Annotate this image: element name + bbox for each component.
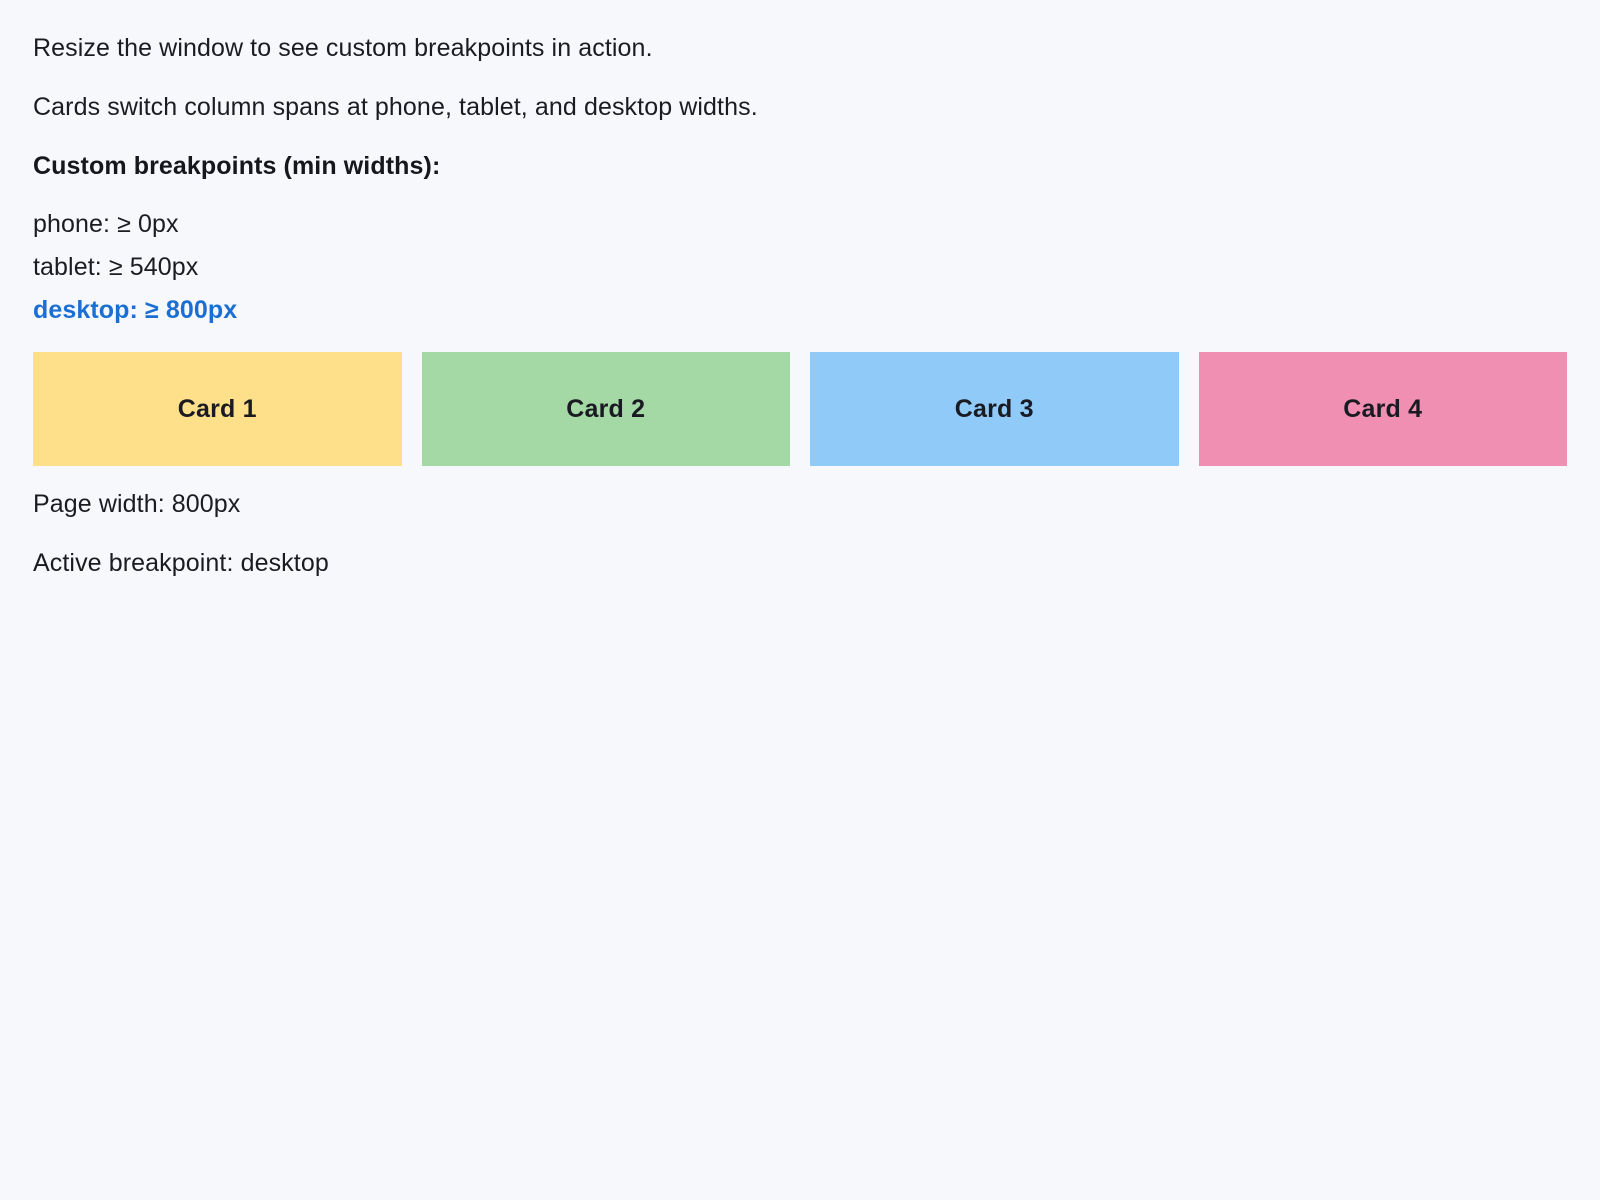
intro-line-2: Cards switch column spans at phone, tabl… xyxy=(33,92,1567,122)
card-2[interactable]: Card 2 xyxy=(422,352,791,466)
card-2-label: Card 2 xyxy=(566,395,645,424)
card-1-label: Card 1 xyxy=(178,395,257,424)
card-1[interactable]: Card 1 xyxy=(33,352,402,466)
status-block: Page width: 800px Active breakpoint: des… xyxy=(33,489,1567,578)
breakpoints-heading: Custom breakpoints (min widths): xyxy=(33,151,1567,181)
page-root: Resize the window to see custom breakpoi… xyxy=(0,0,1600,1200)
cards-grid: Card 1 Card 2 Card 3 Card 4 xyxy=(33,352,1567,466)
card-4[interactable]: Card 4 xyxy=(1199,352,1568,466)
breakpoint-item-phone: phone: ≥ 0px xyxy=(33,203,1567,246)
card-3[interactable]: Card 3 xyxy=(810,352,1179,466)
breakpoints-list: phone: ≥ 0px tablet: ≥ 540px desktop: ≥ … xyxy=(33,203,1567,332)
breakpoint-item-desktop: desktop: ≥ 800px xyxy=(33,289,1567,332)
card-4-label: Card 4 xyxy=(1343,395,1422,424)
card-3-label: Card 3 xyxy=(955,395,1034,424)
page-width-status: Page width: 800px xyxy=(33,489,1567,519)
active-breakpoint-status: Active breakpoint: desktop xyxy=(33,548,1567,578)
breakpoint-item-tablet: tablet: ≥ 540px xyxy=(33,246,1567,289)
intro-line-1: Resize the window to see custom breakpoi… xyxy=(33,33,1567,63)
